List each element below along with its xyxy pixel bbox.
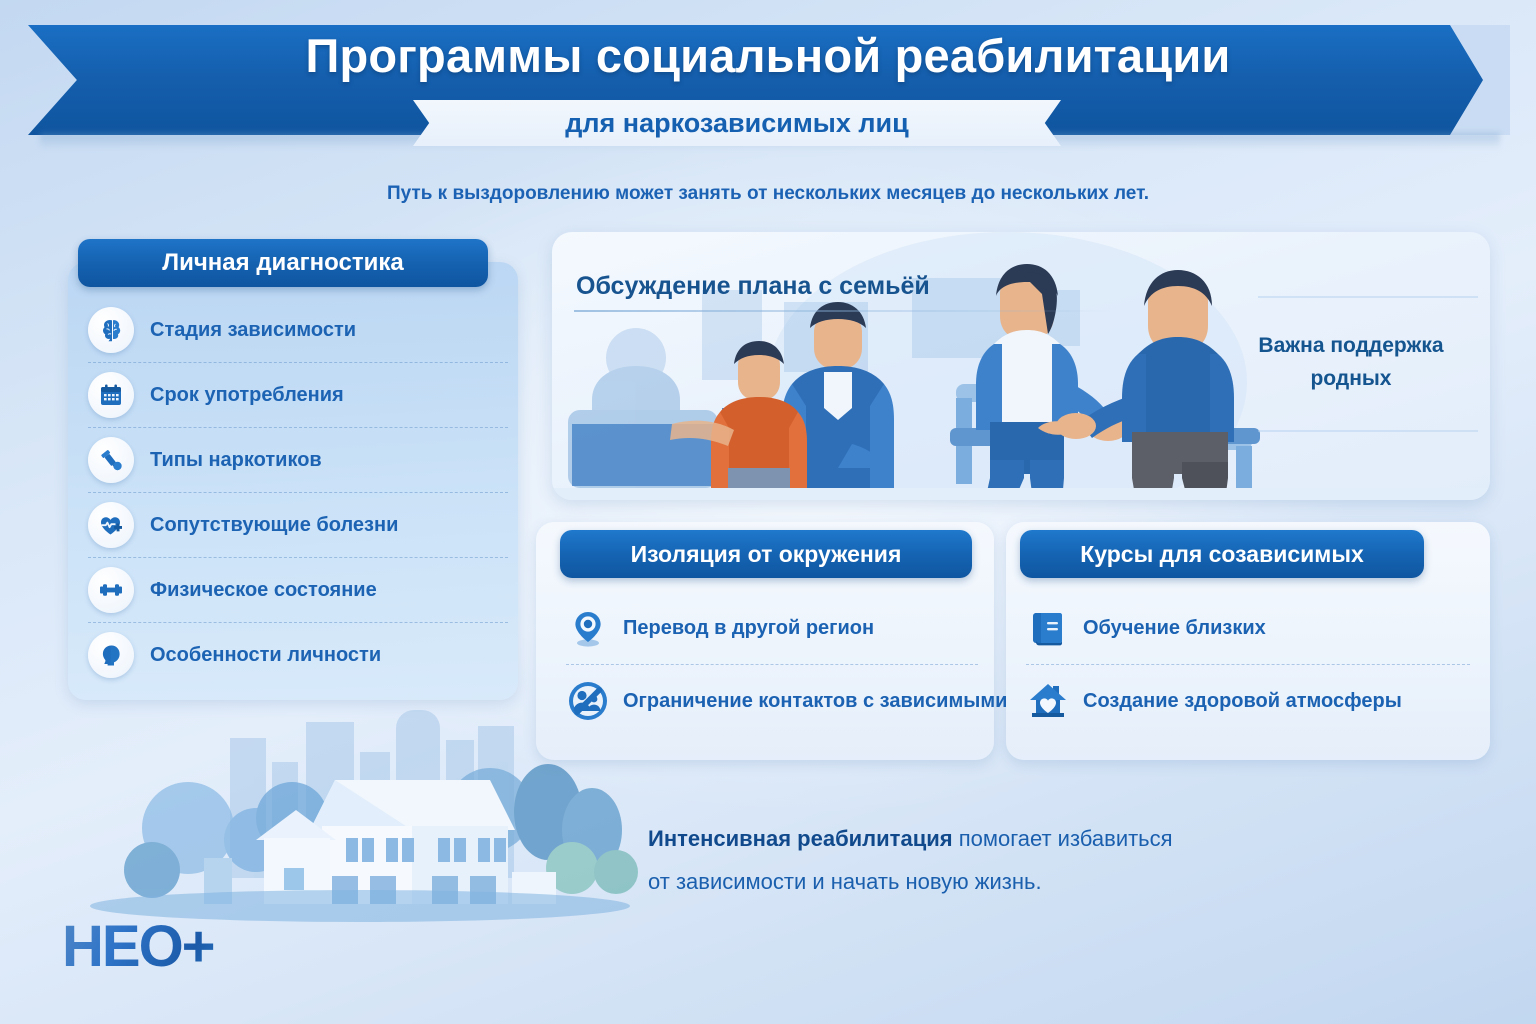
book-icon: [1026, 606, 1070, 650]
codependents-list: Обучение близких Создание здоровой атмос…: [1026, 592, 1470, 737]
statement-strong: Интенсивная реабилитация: [648, 826, 953, 851]
heart-plus-icon: [88, 502, 134, 548]
list-item-label: Срок употребления: [150, 384, 344, 407]
home-heart-icon: [1026, 679, 1070, 723]
brain-icon: [88, 307, 134, 353]
list-item-label: Ограничение контактов с зависимыми: [623, 690, 1007, 713]
list-item[interactable]: Особенности личности: [88, 623, 508, 687]
list-item[interactable]: Ограничение контактов с зависимыми: [566, 665, 978, 737]
head-profile-icon: [88, 632, 134, 678]
list-item-label: Стадия зависимости: [150, 319, 356, 342]
list-item[interactable]: Перевод в другой регион: [566, 592, 978, 665]
support-caption-line1: Важна поддержка: [1258, 334, 1443, 357]
diagnostics-list: Стадия зависимости Срок употребления Тип…: [88, 298, 508, 687]
support-caption-line2: родных: [1310, 367, 1391, 390]
calendar-icon: [88, 372, 134, 418]
diagnostics-heading: Личная диагностика: [78, 239, 488, 287]
list-item[interactable]: Физическое состояние: [88, 558, 508, 623]
list-item-label: Создание здоровой атмосферы: [1083, 690, 1402, 713]
list-item-label: Сопутствующие болезни: [150, 514, 398, 537]
list-item[interactable]: Срок употребления: [88, 363, 508, 428]
closing-statement: Интенсивная реабилитация помогает избави…: [648, 818, 1368, 904]
codependents-heading: Курсы для созависимых: [1020, 530, 1424, 578]
support-caption: Важна поддержка родных: [1232, 330, 1470, 395]
logo[interactable]: НЕО+: [62, 915, 302, 977]
list-item-label: Типы наркотиков: [150, 449, 322, 472]
list-item-label: Обучение близких: [1083, 617, 1266, 640]
page-title: Программы социальной реабилитации: [0, 28, 1536, 83]
isolation-heading: Изоляция от окружения: [560, 530, 972, 578]
lead-text: Путь к выздоровлению может занять от нес…: [0, 183, 1536, 205]
list-item-label: Физическое состояние: [150, 579, 377, 602]
location-pin-icon: [566, 606, 610, 650]
photo-card-title: Обсуждение плана с семьёй: [576, 272, 930, 301]
dumbbell-icon: [88, 567, 134, 613]
list-item-label: Особенности личности: [150, 644, 381, 667]
list-item[interactable]: Обучение близких: [1026, 592, 1470, 665]
page-subtitle: для наркозависимых лиц: [413, 100, 1061, 146]
list-item[interactable]: Стадия зависимости: [88, 298, 508, 363]
infographic-canvas: Программы социальной реабилитации для на…: [0, 0, 1536, 1024]
list-item[interactable]: Типы наркотиков: [88, 428, 508, 493]
no-contact-icon: [566, 679, 610, 723]
isolation-list: Перевод в другой регион Ограничение конт…: [566, 592, 978, 737]
list-item-label: Перевод в другой регион: [623, 617, 874, 640]
statement-line2: от зависимости и начать новую жизнь.: [648, 869, 1042, 894]
list-item[interactable]: Создание здоровой атмосферы: [1026, 665, 1470, 737]
photo-title-divider: [574, 310, 1114, 312]
syringe-icon: [88, 437, 134, 483]
list-item[interactable]: Сопутствующие болезни: [88, 493, 508, 558]
statement-rest: помогает избавиться: [953, 826, 1173, 851]
